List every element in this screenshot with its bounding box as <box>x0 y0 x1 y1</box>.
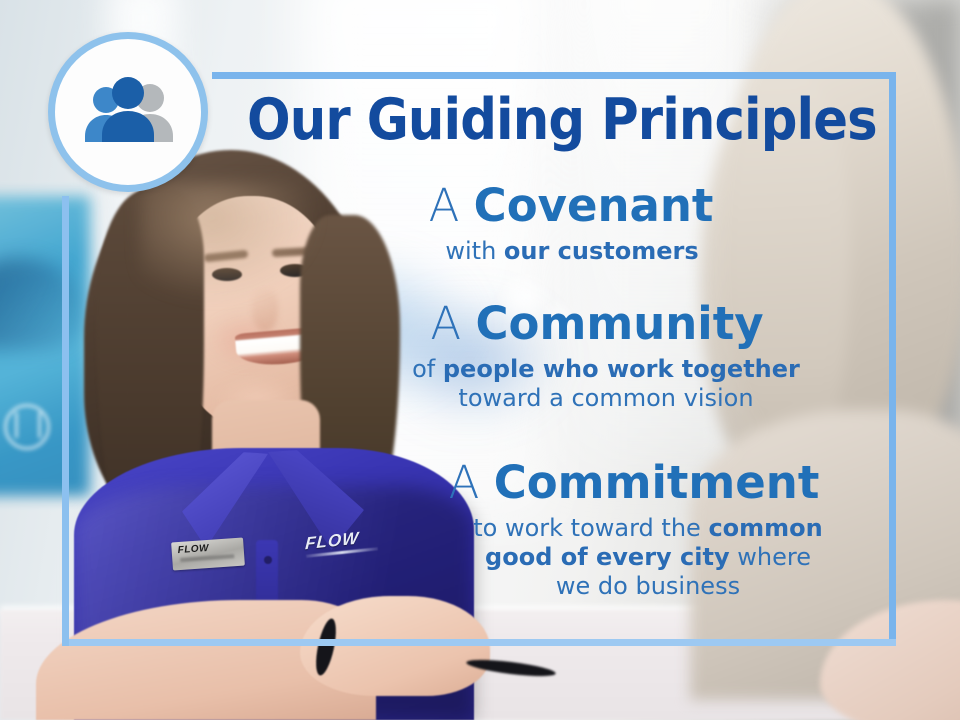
page-title: Our Guiding Principles <box>247 92 859 149</box>
principle-community-article: A <box>430 297 475 350</box>
principle-community: A Community of people who work together … <box>240 300 892 413</box>
principle-community-subtext: of people who work together toward a com… <box>240 355 892 414</box>
principle-community-sub-line-2: toward a common vision <box>320 384 892 413</box>
group-of-people-icon <box>48 32 208 192</box>
principle-community-sub-line-1: of people who work together <box>320 355 892 384</box>
principle-commitment-keyword: Commitment <box>494 456 820 509</box>
frame-border-left <box>62 196 69 646</box>
principle-covenant: A Covenant with our customers <box>240 182 892 266</box>
principle-commitment-sub-line-1: to work toward the common <box>404 514 892 543</box>
principle-commitment-sub-plain-1: to work toward the <box>473 514 708 542</box>
principle-commitment-sub-plain-2: where <box>730 543 811 571</box>
principle-community-sub-plain-1: of <box>412 355 443 383</box>
principle-commitment-sub-bold-2: good of every city <box>485 543 730 571</box>
principle-covenant-keyword: Covenant <box>474 179 714 232</box>
employee-name-badge: FLOW <box>171 538 245 571</box>
principle-community-keyword: Community <box>476 297 764 350</box>
principle-commitment-article: A <box>449 456 494 509</box>
principle-commitment-heading: A Commitment <box>240 459 892 508</box>
principle-commitment: A Commitment to work toward the common g… <box>240 459 892 601</box>
principle-commitment-sub-line-2: good of every city where <box>404 543 892 572</box>
principle-commitment-subtext: to work toward the common good of every … <box>240 514 892 602</box>
principle-commitment-sub-line-3: we do business <box>404 572 892 601</box>
principle-community-sub-bold-1: people who work together <box>443 355 800 383</box>
name-badge-logo-text: FLOW <box>177 543 209 556</box>
principle-covenant-sub-bold-1: our customers <box>504 237 699 265</box>
principle-commitment-sub-bold-1: common <box>708 514 822 542</box>
principle-community-heading: A Community <box>240 300 892 349</box>
principle-covenant-article: A <box>429 179 474 232</box>
principle-covenant-heading: A Covenant <box>240 182 892 231</box>
principle-covenant-sub-plain-1: with <box>445 237 504 265</box>
banner-canvas: FLOW FLOW Our Guiding Principles <box>0 0 960 720</box>
frame-border-top <box>212 72 896 79</box>
frame-border-bottom <box>62 639 896 646</box>
principle-covenant-subtext: with our customers <box>240 237 892 266</box>
